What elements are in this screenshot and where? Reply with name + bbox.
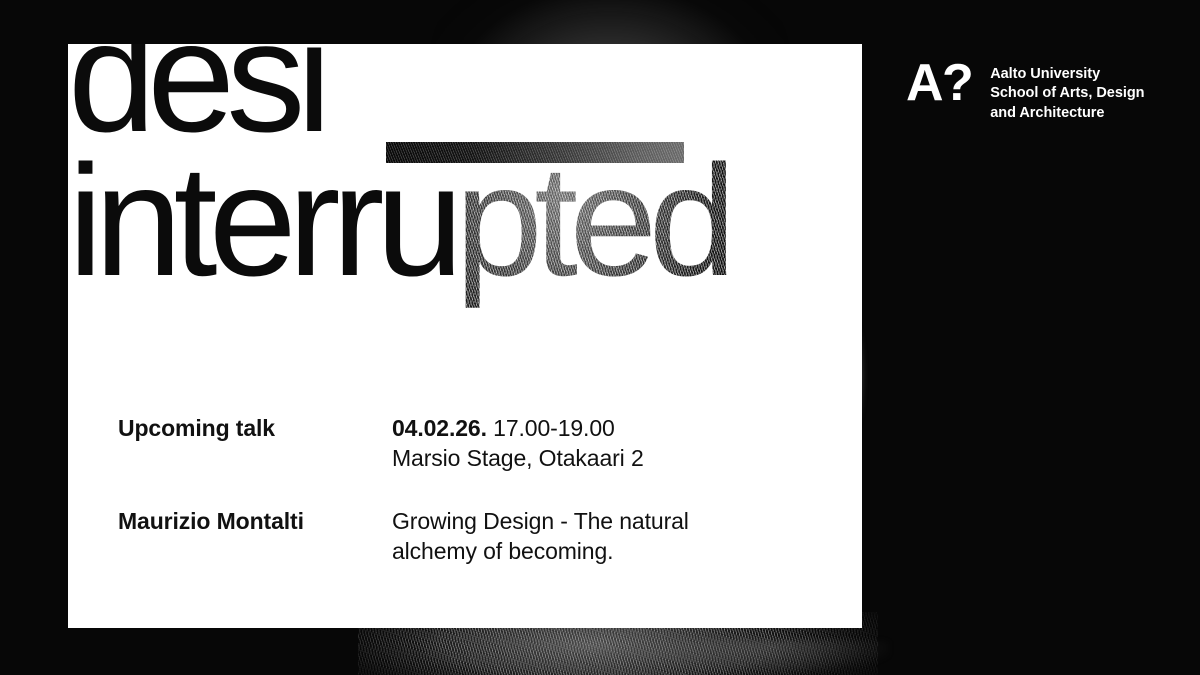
detail-venue: Marsio Stage, Otakaari 2 bbox=[392, 443, 758, 473]
detail-value: 04.02.26. 17.00-19.00 Marsio Stage, Otak… bbox=[392, 413, 758, 474]
aalto-logo: A? Aalto University School of Arts, Desi… bbox=[906, 60, 1145, 123]
photo-neck-shade bbox=[560, 640, 890, 675]
detail-talk-title-line-two: alchemy of becoming. bbox=[392, 536, 758, 566]
detail-row: Upcoming talk 04.02.26. 17.00-19.00 Mars… bbox=[118, 413, 758, 474]
detail-row: Maurizio Montalti Growing Design - The n… bbox=[118, 506, 758, 567]
detail-label: Maurizio Montalti bbox=[118, 506, 392, 536]
aalto-logo-text: Aalto University School of Arts, Design … bbox=[990, 60, 1144, 123]
poster-canvas: desi ———— gn interrupted Upcoming talk 0… bbox=[0, 0, 1200, 675]
detail-date: 04.02.26. bbox=[392, 415, 487, 441]
detail-time: 17.00-19.00 bbox=[487, 415, 615, 441]
aalto-logo-line-three: and Architecture bbox=[990, 104, 1144, 123]
detail-value-line-one: 04.02.26. 17.00-19.00 bbox=[392, 413, 758, 443]
aalto-logo-line-one: Aalto University bbox=[990, 65, 1144, 84]
aalto-logo-line-two: School of Arts, Design bbox=[990, 84, 1144, 103]
event-details-block: Upcoming talk 04.02.26. 17.00-19.00 Mars… bbox=[118, 413, 758, 566]
detail-talk-title-line-one: Growing Design - The natural bbox=[392, 506, 758, 536]
detail-value: Growing Design - The natural alchemy of … bbox=[392, 506, 758, 567]
aalto-mark-icon: A? bbox=[906, 60, 972, 108]
detail-label: Upcoming talk bbox=[118, 413, 392, 443]
